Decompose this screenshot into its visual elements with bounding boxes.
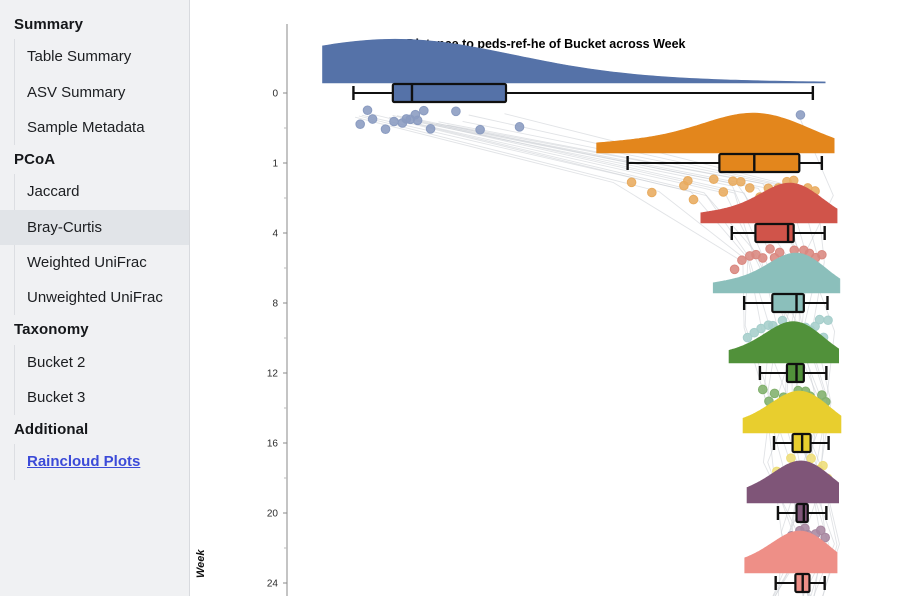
raincloud-chart[interactable]: Distance to peds-ref-he of Bucket across… [190, 0, 902, 596]
rain-point [787, 454, 796, 463]
sidebar-item-bucket-2[interactable]: Bucket 2 [0, 345, 189, 380]
boxplot-box [797, 504, 808, 522]
sidebar-section-title: Summary [0, 10, 189, 39]
sidebar-item-weighted-unifrac[interactable]: Weighted UniFrac [0, 245, 189, 280]
y-tick-label: 0 [272, 89, 278, 100]
boxplot-box [719, 154, 799, 172]
sidebar-item-label: Table Summary [27, 48, 131, 65]
sidebar-item-bray-curtis[interactable]: Bray-Curtis [0, 210, 189, 245]
rain-point [824, 316, 833, 325]
sidebar-item-unweighted-unifrac[interactable]: Unweighted UniFrac [0, 280, 189, 315]
raincloud-plot-panel: Distance to peds-ref-he of Bucket across… [190, 0, 902, 596]
sidebar-item-label: Sample Metadata [27, 119, 145, 136]
boxplot-box [393, 84, 506, 102]
rain-point [729, 177, 738, 186]
y-tick-label: 1 [272, 159, 278, 170]
sidebar-section-items: JaccardBray-CurtisWeighted UniFracUnweig… [0, 174, 189, 315]
sidebar-item-label: Bucket 2 [27, 354, 85, 371]
boxplot-box [772, 294, 804, 312]
rain-point [818, 250, 827, 259]
rain-point [452, 107, 461, 116]
rain-point [363, 106, 372, 115]
sidebar-sections: SummaryTable SummaryASV SummarySample Me… [0, 10, 189, 480]
sidebar-item-jaccard[interactable]: Jaccard [0, 174, 189, 209]
sidebar-item-label: Bray-Curtis [27, 219, 102, 236]
rain-point [426, 125, 435, 134]
y-tick-label: 16 [267, 439, 279, 450]
rain-point [719, 188, 728, 197]
sidebar-section-items: Table SummaryASV SummarySample Metadata [0, 39, 189, 145]
sidebar-section-title: Additional [0, 415, 189, 444]
rain-point [420, 106, 429, 115]
rain-point [709, 175, 718, 184]
sidebar-item-bucket-3[interactable]: Bucket 3 [0, 380, 189, 415]
y-tick-label: 20 [267, 509, 279, 520]
rain-point [766, 245, 775, 254]
rain-point [368, 115, 377, 124]
rain-point [684, 176, 693, 185]
y-axis-title: Week [195, 549, 207, 578]
rain-point [770, 389, 779, 398]
y-axis-ticks: 014812162024 [267, 89, 287, 590]
rain-point [815, 315, 824, 324]
sidebar-item-label: ASV Summary [27, 84, 125, 101]
rain-point [807, 454, 816, 463]
rain-point [689, 195, 698, 204]
sidebar-section-items: Raincloud Plots [0, 444, 189, 479]
y-tick-label: 24 [267, 579, 279, 590]
sidebar-item-label: Bucket 3 [27, 389, 85, 406]
rain-point [730, 265, 739, 274]
rain-point [476, 125, 485, 134]
rain-point [745, 184, 754, 193]
sidebar-section-items: Bucket 2Bucket 3 [0, 345, 189, 416]
rain-point [738, 256, 747, 265]
raincloud-rows [323, 39, 842, 596]
rain-point [758, 385, 767, 394]
app-root: SummaryTable SummaryASV SummarySample Me… [0, 0, 902, 596]
rain-point [796, 111, 805, 120]
sidebar-item-label: Unweighted UniFrac [27, 289, 163, 306]
rain-point [356, 120, 365, 129]
rain-point [390, 117, 399, 126]
sidebar-item-asv-summary[interactable]: ASV Summary [0, 75, 189, 110]
rain-point [736, 177, 745, 186]
rain-point [381, 125, 390, 134]
y-tick-label: 4 [272, 229, 278, 240]
rain-point [515, 123, 524, 132]
raincloud-group-week-4[interactable] [701, 183, 837, 274]
rain-point [648, 188, 657, 197]
sidebar-item-raincloud-plots[interactable]: Raincloud Plots [0, 444, 189, 479]
sidebar-section-title: Taxonomy [0, 315, 189, 344]
rain-point [627, 178, 636, 187]
rain-point [775, 248, 784, 257]
sidebar: SummaryTable SummaryASV SummarySample Me… [0, 0, 190, 596]
y-tick-label: 12 [267, 369, 279, 380]
sidebar-item-sample-metadata[interactable]: Sample Metadata [0, 110, 189, 145]
sidebar-item-label: Jaccard [27, 183, 80, 200]
sidebar-item-label: Weighted UniFrac [27, 254, 147, 271]
rain-point [413, 116, 422, 125]
y-tick-label: 8 [272, 299, 278, 310]
sidebar-item-table-summary[interactable]: Table Summary [0, 39, 189, 74]
rain-point [758, 254, 767, 263]
sidebar-section-title: PCoA [0, 145, 189, 174]
sidebar-item-label: Raincloud Plots [27, 453, 140, 470]
